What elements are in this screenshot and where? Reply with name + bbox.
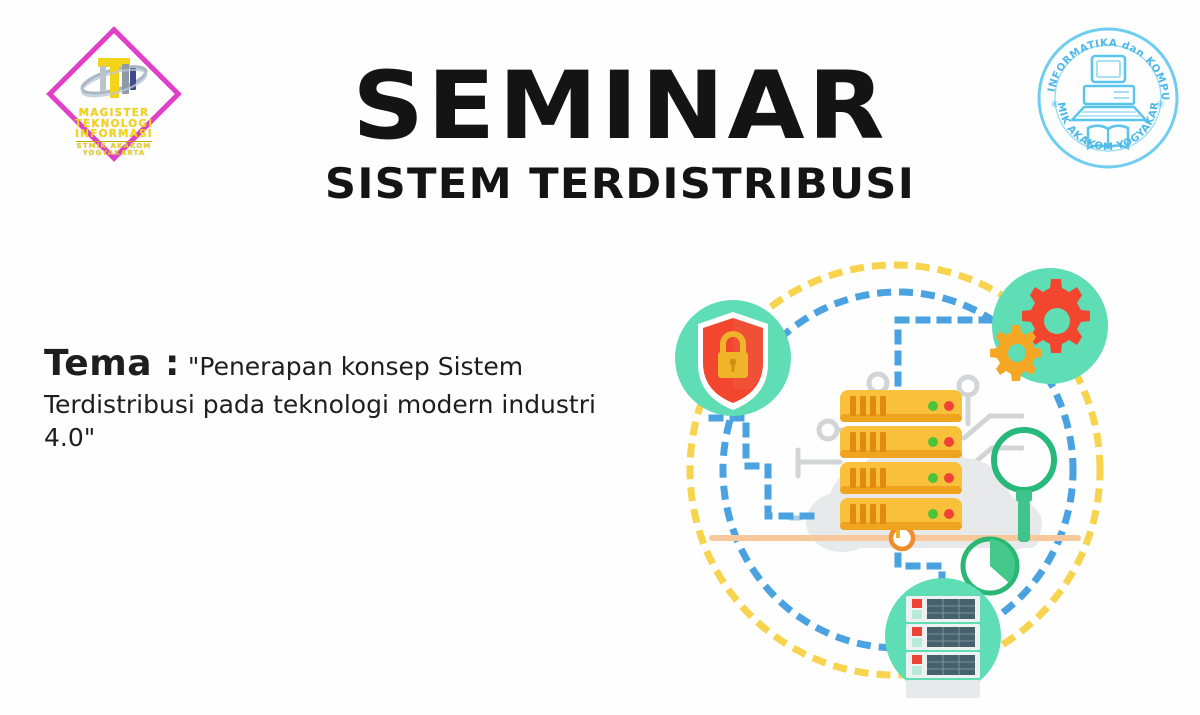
theme-block: Tema : "Penerapan konsep Sistem Terdistr… [44, 340, 624, 454]
pie-chart-icon [963, 539, 1017, 593]
server-stack-icon [840, 390, 962, 538]
logo-line-3: INFORMASI [44, 129, 184, 140]
seminar-poster: { "poster": { "background_color": "#fefe… [0, 0, 1200, 715]
logo-magister-teknologi-informasi: MAGISTER TEKNOLOGI INFORMASI STMIK AKAKO… [44, 24, 184, 188]
theme-paragraph: Tema : "Penerapan konsep Sistem Terdistr… [44, 340, 624, 454]
logo-line-5: YOGYAKARTA [44, 150, 184, 157]
logo-wordmark: MAGISTER TEKNOLOGI INFORMASI STMIK AKAKO… [44, 108, 184, 157]
node-settings [990, 268, 1108, 384]
bus-node-ring-icon [891, 527, 913, 549]
dotted-link-top-icon [898, 320, 990, 388]
node-datacenter [885, 578, 1001, 698]
logo-ukm-informatika-komputer: ✳ ✳ UKM INFORMATIKA dan KOMPUTER STMIK A… [1034, 24, 1182, 172]
seal-top-text: UKM INFORMATIKA dan KOMPUTER [1034, 24, 1170, 101]
page-title: SEMINAR [281, 66, 959, 149]
seal-svg: ✳ ✳ UKM INFORMATIKA dan KOMPUTER STMIK A… [1034, 24, 1182, 172]
distributed-system-illustration [650, 238, 1130, 708]
node-security [675, 300, 791, 416]
title-block: SEMINAR SISTEM TERDISTRIBUSI [300, 66, 940, 205]
theme-label: Tema : [44, 343, 180, 384]
page-subtitle: SISTEM TERDISTRIBUSI [290, 163, 949, 205]
logo-mti-monogram [44, 50, 184, 108]
